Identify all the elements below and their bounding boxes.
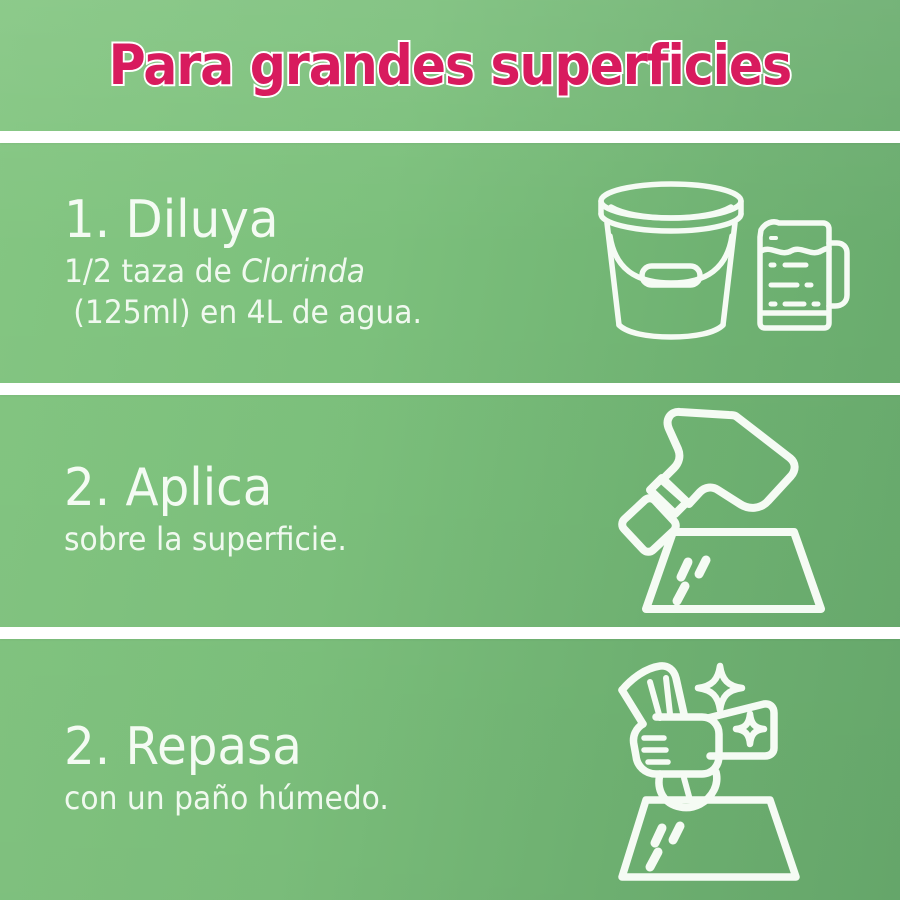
step-1-sub-prefix: 1/2 taza de bbox=[64, 252, 241, 290]
step-1-brand-name: Clorinda bbox=[241, 252, 365, 290]
step-1-artwork bbox=[540, 143, 900, 383]
page-title: Para grandes superficies bbox=[109, 38, 791, 93]
step-1-text-block: 1. Diluya 1/2 taza de Clorinda (125ml) e… bbox=[0, 194, 540, 333]
step-2-artwork bbox=[540, 395, 900, 627]
poster-title-band: Para grandes superficies bbox=[0, 0, 900, 131]
step-3-text-block: 2. Repasa con un paño húmedo. bbox=[0, 721, 540, 819]
step-1-sub-line2: (125ml) en 4L de agua. bbox=[64, 292, 507, 333]
step-1-dilute: 1. Diluya 1/2 taza de Clorinda (125ml) e… bbox=[0, 143, 900, 383]
divider-1 bbox=[0, 131, 900, 143]
divider-3 bbox=[0, 627, 900, 639]
step-1-description: 1/2 taza de Clorinda (125ml) en 4L de ag… bbox=[64, 251, 507, 333]
step-1-heading: 1. Diluya bbox=[64, 194, 507, 247]
step-3-wipe: 2. Repasa con un paño húmedo. bbox=[0, 639, 900, 900]
step-3-description: con un paño húmedo. bbox=[64, 778, 507, 819]
step-2-text-block: 2. Aplica sobre la superficie. bbox=[0, 462, 540, 560]
step-2-apply: 2. Aplica sobre la superficie. bbox=[0, 395, 900, 627]
step-3-heading: 2. Repasa bbox=[64, 721, 507, 774]
divider-2 bbox=[0, 383, 900, 395]
bucket-and-measuring-cup-icon bbox=[585, 173, 855, 353]
instructions-poster: Para grandes superficies 1. Diluya 1/2 t… bbox=[0, 0, 900, 900]
step-3-artwork bbox=[540, 639, 900, 900]
pouring-bottle-on-surface-icon bbox=[600, 404, 840, 619]
step-2-description: sobre la superficie. bbox=[64, 519, 507, 560]
hand-wiping-cloth-sparkle-icon bbox=[598, 652, 843, 887]
step-2-heading: 2. Aplica bbox=[64, 462, 507, 515]
